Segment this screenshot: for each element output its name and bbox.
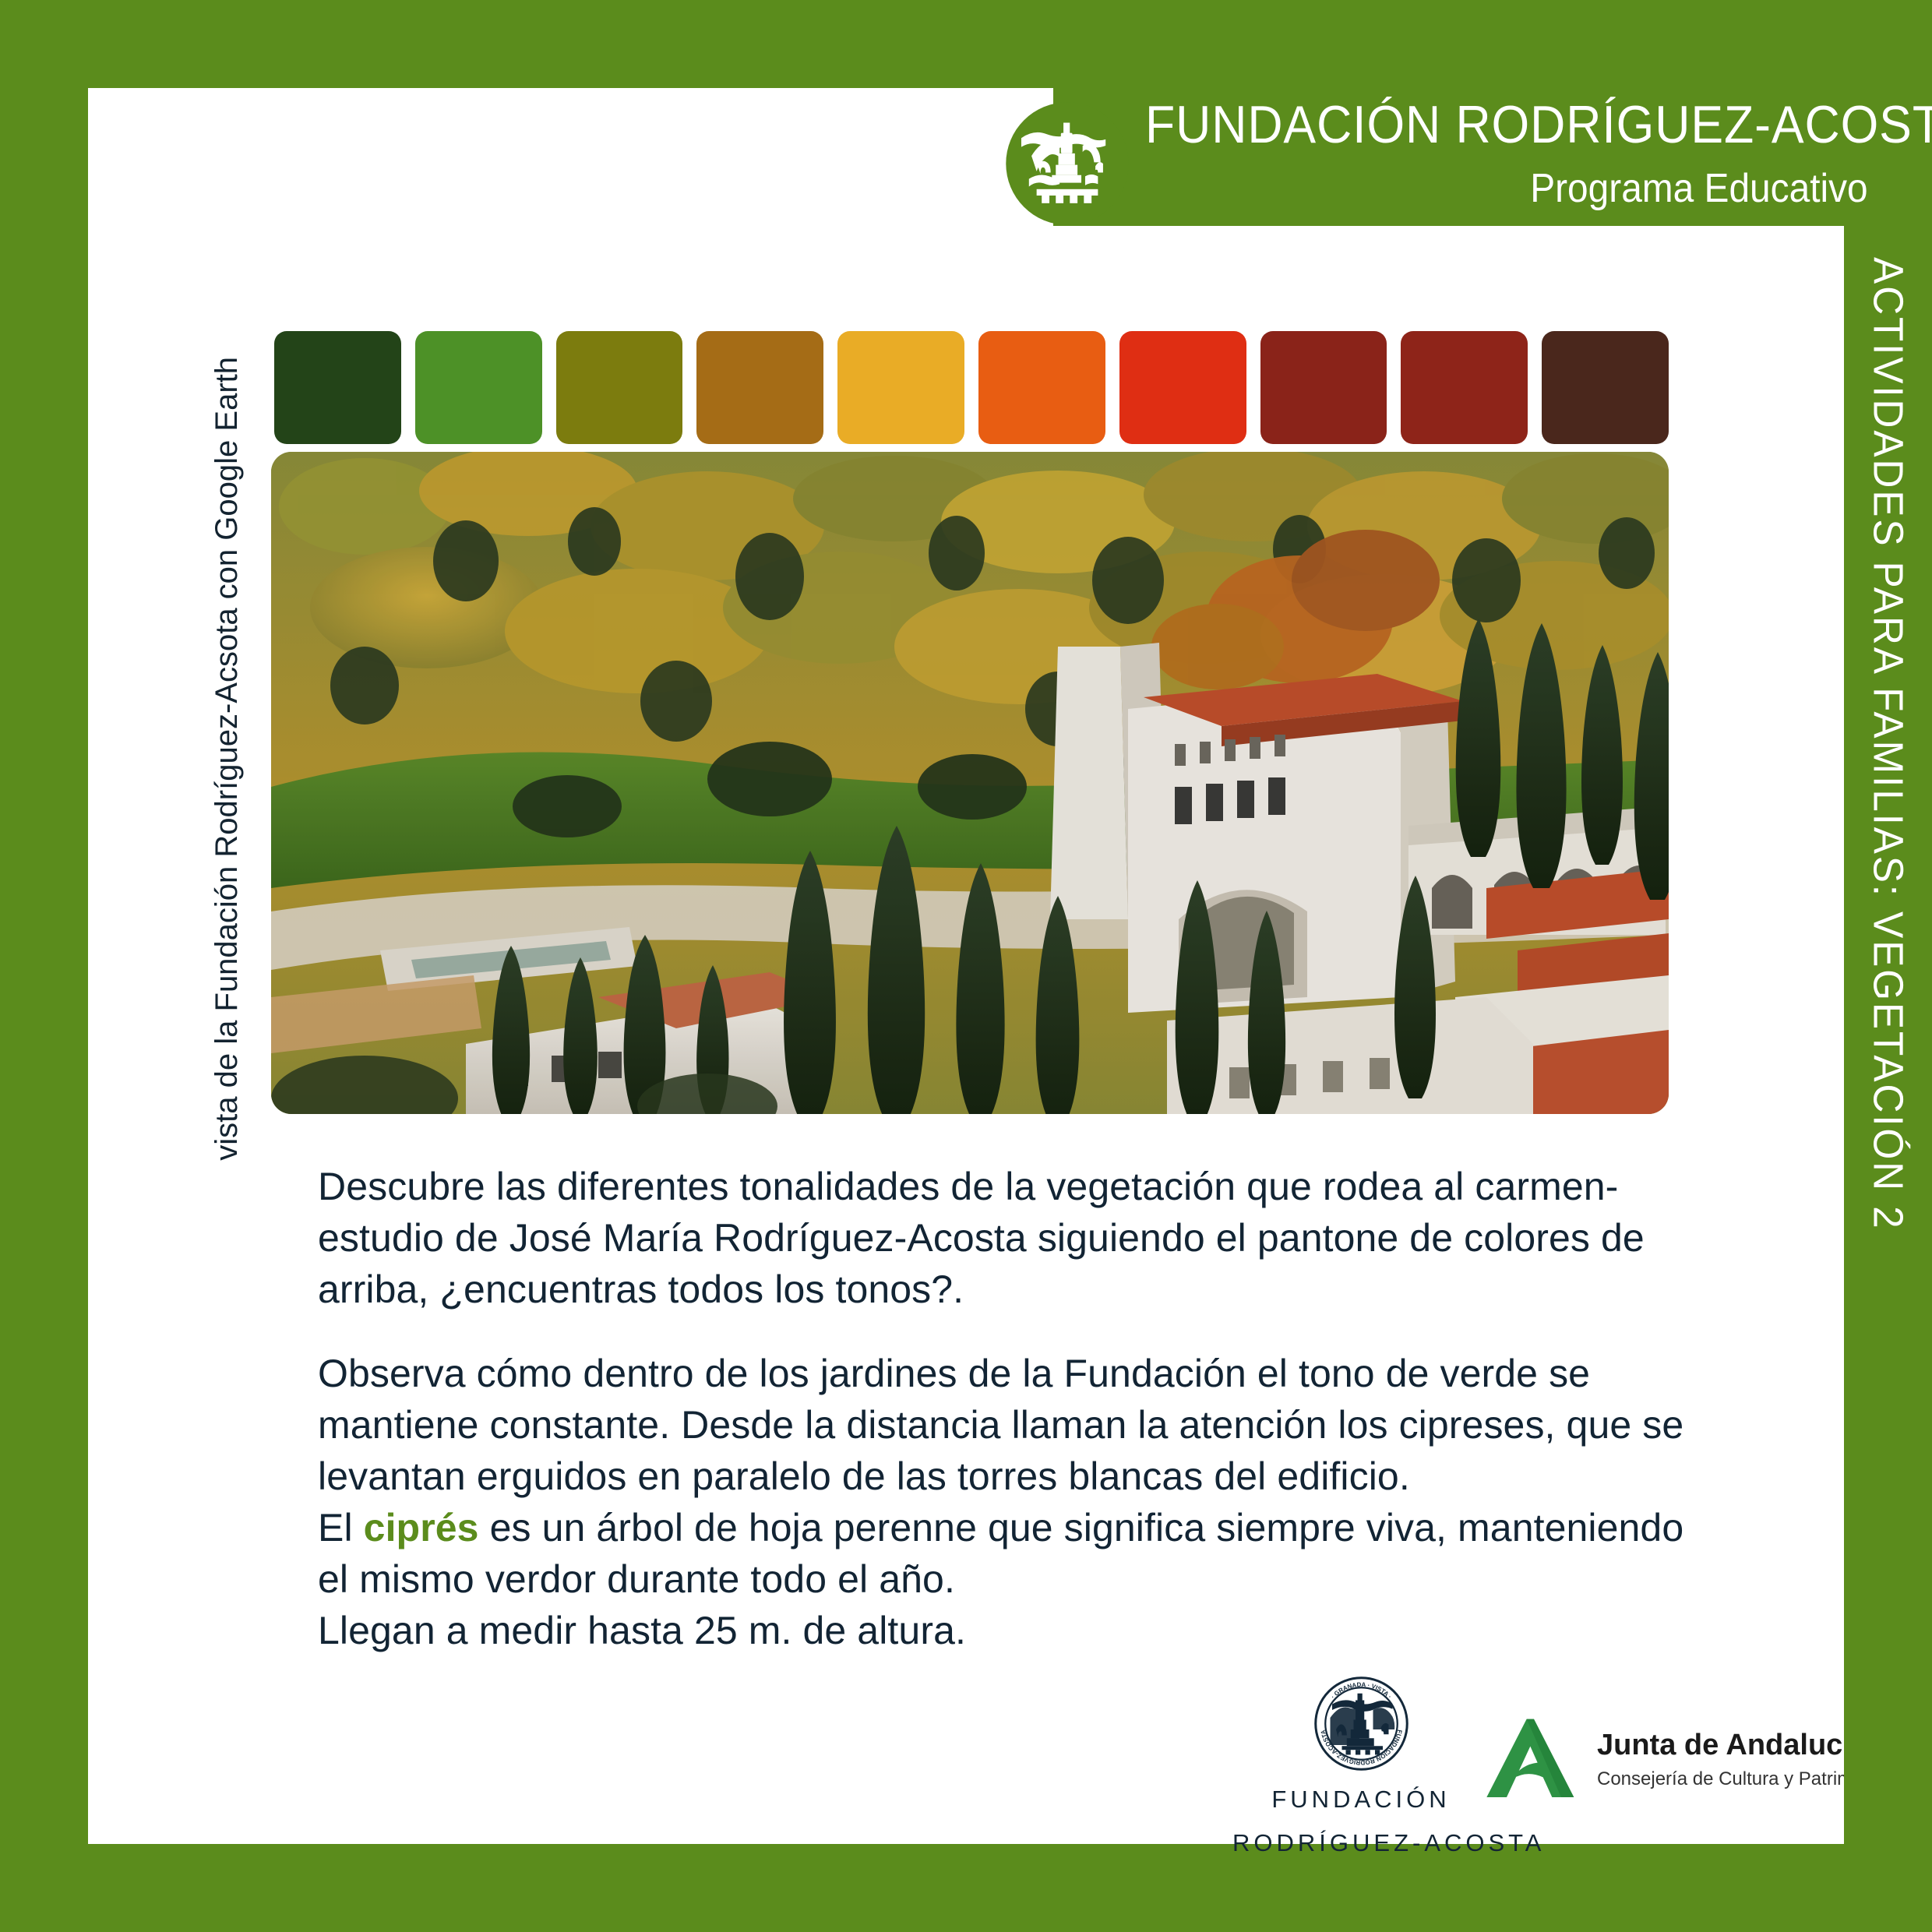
side-tab-label: ACTIVIDADES PARA FAMILIAS: VEGETACIÓN 2	[1864, 257, 1913, 1231]
fundacion-footer-line-2: RODRÍGUEZ-ACOSTA	[1232, 1827, 1490, 1860]
pantone-swatch-rojo-teja	[1260, 331, 1387, 444]
page-title: FUNDACIÓN RODRÍGUEZ-ACOSTA	[1145, 98, 1815, 151]
paragraph-height: Llegan a medir hasta 25 m. de altura.	[318, 1609, 966, 1652]
pantone-swatch-verde-hoja	[415, 331, 542, 444]
body-text-block: Descubre las diferentes tonalidades de l…	[318, 1161, 1689, 1656]
photo-caption-wrap: vista de la Fundación Rodríguez-Acsota c…	[192, 335, 262, 1161]
pantone-swatch-rojo-naranja	[1119, 331, 1246, 444]
footer-logos: · GRANADA · VISTA · FUNDACION RODRIGVEZ-…	[1200, 1675, 1823, 1854]
pantone-swatch-ocre	[696, 331, 823, 444]
cipres-highlight: ciprés	[364, 1506, 479, 1549]
aerial-photo	[271, 452, 1669, 1114]
fundacion-footer-logo: · GRANADA · VISTA · FUNDACION RODRIGVEZ-…	[1232, 1675, 1490, 1860]
cipres-rest: es un árbol de hoja perenne que signific…	[318, 1506, 1683, 1601]
cipres-lead: El	[318, 1506, 364, 1549]
paragraph-observation-text: Observa cómo dentro de los jardines de l…	[318, 1352, 1683, 1498]
header-subtitle: Programa Educativo	[1204, 168, 1874, 209]
junta-de-andalucia-a-mark-icon	[1474, 1712, 1583, 1806]
pantone-swatch-amarillo-dorado	[837, 331, 964, 444]
pantone-swatch-marron-oscuro	[1542, 331, 1669, 444]
photo-caption: vista de la Fundación Rodríguez-Acsota c…	[210, 357, 245, 1161]
fundacion-circular-emblem-icon	[1003, 100, 1131, 227]
pantone-swatch-naranja	[978, 331, 1105, 444]
poster-root: FUNDACIÓN RODRÍGUEZ-ACOSTA Programa Educ…	[0, 0, 1932, 1932]
paragraph-intro: Descubre las diferentes tonalidades de l…	[318, 1161, 1689, 1315]
side-tab-label-wrap: ACTIVIDADES PARA FAMILIAS: VEGETACIÓN 2	[1844, 257, 1932, 1309]
pantone-swatch-verde-oscuro	[274, 331, 401, 444]
pantone-swatch-verde-oliva	[556, 331, 683, 444]
paragraph-observation: Observa cómo dentro de los jardines de l…	[318, 1348, 1689, 1656]
header-text-block: FUNDACIÓN RODRÍGUEZ-ACOSTA Programa Educ…	[1145, 98, 1874, 209]
pantone-swatch-rojo-ladrillo	[1401, 331, 1528, 444]
fundacion-footer-line-1: FUNDACIÓN	[1232, 1783, 1490, 1816]
fundacion-rodriguez-acosta-seal-icon: · GRANADA · VISTA · FUNDACION RODRIGVEZ-…	[1313, 1675, 1410, 1772]
pantone-swatch-row	[274, 331, 1669, 444]
